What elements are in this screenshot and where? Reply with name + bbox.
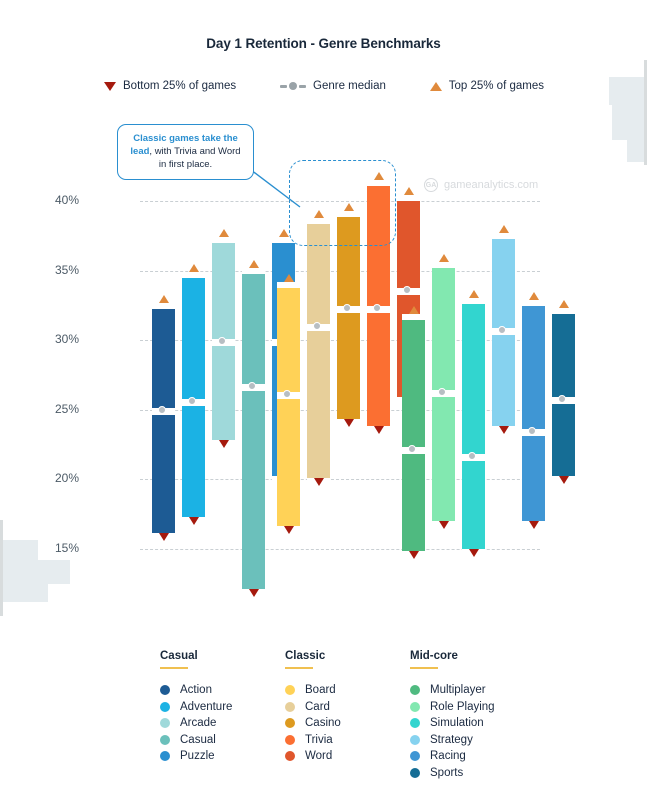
triangle-up-icon: [284, 274, 294, 282]
triangle-down-icon: [529, 521, 539, 529]
top-quartile-band: [552, 308, 575, 314]
median-dot-icon: [343, 304, 351, 312]
triangle-up-icon: [219, 229, 229, 237]
legend-color-swatch-icon: [160, 718, 170, 728]
triangle-down-icon: [469, 549, 479, 557]
median-dot-icon: [438, 388, 446, 396]
median-dot-icon: [558, 395, 566, 403]
legend-item[interactable]: Card: [285, 699, 410, 716]
range-bar[interactable]: [522, 300, 545, 527]
range-bar[interactable]: [242, 268, 265, 595]
legend-item[interactable]: Sports: [410, 765, 535, 782]
legend-item-label: Casino: [305, 717, 341, 729]
y-axis-tick-label: 15%: [19, 541, 79, 555]
legend-color-swatch-icon: [410, 702, 420, 712]
triangle-up-icon: [404, 187, 414, 195]
legend-item-label: Card: [305, 701, 330, 713]
legend-color-swatch-icon: [285, 751, 295, 761]
legend-item[interactable]: Casual: [160, 732, 285, 749]
legend-item[interactable]: Puzzle: [160, 748, 285, 765]
legend-color-swatch-icon: [160, 735, 170, 745]
median-dot-icon: [158, 406, 166, 414]
legend-item[interactable]: Action: [160, 682, 285, 699]
triangle-down-icon: [159, 533, 169, 541]
range-bar[interactable]: [152, 303, 175, 540]
triangle-up-icon: [409, 306, 419, 314]
legend-title-underline: [285, 667, 313, 669]
triangle-up-icon: [499, 225, 509, 233]
chart-plot-area: 15%20%25%30%35%40%: [0, 0, 647, 630]
legend-item-label: Racing: [430, 750, 466, 762]
triangle-up-icon: [249, 260, 259, 268]
legend-item[interactable]: Multiplayer: [410, 682, 535, 699]
triangle-down-icon: [314, 478, 324, 486]
legend-item-label: Arcade: [180, 717, 216, 729]
triangle-up-icon: [374, 172, 384, 180]
legend-column-title: Classic: [285, 650, 410, 662]
gameanalytics-logo-icon: GA: [424, 178, 438, 192]
triangle-up-icon: [189, 264, 199, 272]
legend-color-swatch-icon: [160, 751, 170, 761]
legend-item[interactable]: Arcade: [160, 715, 285, 732]
triangle-up-icon: [529, 292, 539, 300]
legend-color-swatch-icon: [410, 768, 420, 778]
legend-color-swatch-icon: [285, 718, 295, 728]
legend-column-casual: CasualActionAdventureArcadeCasualPuzzle: [160, 650, 285, 781]
top-quartile-band: [277, 282, 300, 288]
top-quartile-band: [402, 314, 425, 320]
legend-color-swatch-icon: [410, 718, 420, 728]
legend-color-swatch-icon: [285, 702, 295, 712]
triangle-down-icon: [249, 589, 259, 597]
legend-item-label: Word: [305, 750, 332, 762]
median-dot-icon: [528, 427, 536, 435]
legend-column-title: Casual: [160, 650, 285, 662]
legend-item[interactable]: Strategy: [410, 732, 535, 749]
triangle-down-icon: [219, 440, 229, 448]
triangle-down-icon: [559, 476, 569, 484]
legend-color-swatch-icon: [285, 685, 295, 695]
top-quartile-band: [152, 303, 175, 309]
top-quartile-band: [522, 300, 545, 306]
watermark: GA gameanalytics.com: [424, 178, 538, 192]
legend-item-label: Puzzle: [180, 750, 215, 762]
triangle-down-icon: [409, 551, 419, 559]
y-axis-tick-label: 20%: [19, 471, 79, 485]
legend-item[interactable]: Board: [285, 682, 410, 699]
legend-color-swatch-icon: [410, 735, 420, 745]
legend-item-label: Trivia: [305, 734, 333, 746]
legend-item-label: Board: [305, 684, 336, 696]
y-axis-tick-label: 25%: [19, 402, 79, 416]
triangle-up-icon: [469, 290, 479, 298]
triangle-down-icon: [189, 517, 199, 525]
callout-rest-text: , with Trivia and Word in first place.: [149, 146, 240, 170]
median-dot-icon: [403, 286, 411, 294]
top-quartile-band: [397, 195, 420, 201]
legend-title-underline: [410, 667, 438, 669]
top-quartile-band: [182, 272, 205, 278]
legend-color-swatch-icon: [285, 735, 295, 745]
range-bar[interactable]: [277, 282, 300, 533]
legend-item-label: Multiplayer: [430, 684, 486, 696]
legend-column-title: Mid-core: [410, 650, 535, 662]
triangle-up-icon: [559, 300, 569, 308]
legend-item-label: Adventure: [180, 701, 232, 713]
median-dot-icon: [468, 452, 476, 460]
range-bar[interactable]: [462, 298, 485, 554]
y-axis-tick-label: 35%: [19, 263, 79, 277]
top-quartile-band: [492, 233, 515, 239]
legend-item-label: Action: [180, 684, 212, 696]
legend-item-label: Role Playing: [430, 701, 495, 713]
top-quartile-band: [462, 298, 485, 304]
triangle-down-icon: [499, 426, 509, 434]
median-dot-icon: [248, 382, 256, 390]
top-quartile-band: [242, 268, 265, 274]
triangle-down-icon: [374, 426, 384, 434]
legend-item[interactable]: Role Playing: [410, 699, 535, 716]
legend-color-swatch-icon: [410, 685, 420, 695]
top-quartile-band: [432, 262, 455, 268]
median-dot-icon: [408, 445, 416, 453]
triangle-down-icon: [344, 419, 354, 427]
legend-item-label: Simulation: [430, 717, 484, 729]
range-bar[interactable]: [307, 218, 330, 484]
triangle-down-icon: [439, 521, 449, 529]
legend-item[interactable]: Racing: [410, 748, 535, 765]
annotation-callout: Classic games take the lead, with Trivia…: [117, 124, 254, 180]
y-axis-tick-label: 40%: [19, 193, 79, 207]
legend-color-swatch-icon: [160, 702, 170, 712]
legend-item-label: Sports: [430, 767, 463, 779]
legend-column-mid-core: Mid-coreMultiplayerRole PlayingSimulatio…: [410, 650, 535, 781]
legend-item-label: Strategy: [430, 734, 473, 746]
range-bar[interactable]: [402, 314, 425, 558]
y-axis-tick-label: 30%: [19, 332, 79, 346]
legend-item[interactable]: Casino: [285, 715, 410, 732]
legend-item[interactable]: Adventure: [160, 699, 285, 716]
legend-item-label: Casual: [180, 734, 216, 746]
legend-column-classic: ClassicBoardCardCasinoTriviaWord: [285, 650, 410, 781]
legend-item[interactable]: Word: [285, 748, 410, 765]
median-dot-icon: [373, 304, 381, 312]
watermark-text: gameanalytics.com: [444, 179, 538, 191]
top-quartile-band: [367, 180, 390, 186]
legend-item[interactable]: Simulation: [410, 715, 535, 732]
legend-color-swatch-icon: [410, 751, 420, 761]
category-legend: CasualActionAdventureArcadeCasualPuzzleC…: [160, 650, 535, 781]
triangle-up-icon: [439, 254, 449, 262]
triangle-up-icon: [159, 295, 169, 303]
triangle-down-icon: [284, 526, 294, 534]
legend-color-swatch-icon: [160, 685, 170, 695]
legend-title-underline: [160, 667, 188, 669]
legend-item[interactable]: Trivia: [285, 732, 410, 749]
